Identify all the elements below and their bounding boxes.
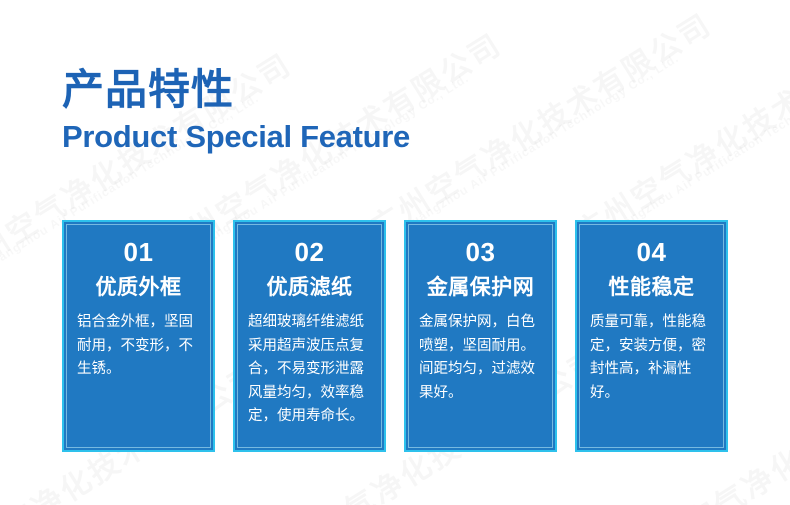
feature-card-body: 铝合金外框，坚固耐用，不变形，不生锈。 (77, 311, 200, 381)
feature-card-body: 金属保护网，白色喷塑，坚固耐用。间距均匀，过滤效果好。 (419, 311, 542, 405)
feature-card-number: 02 (248, 238, 371, 268)
feature-card-list: 01 优质外框 铝合金外框，坚固耐用，不变形，不生锈。 02 优质滤纸 超细玻璃… (62, 220, 728, 452)
feature-card-heading: 金属保护网 (419, 275, 542, 300)
page-title-en: Product Special Feature (62, 118, 410, 155)
feature-card-number: 01 (77, 238, 200, 268)
feature-card[interactable]: 04 性能稳定 质量可靠，性能稳定，安装方便，密封性高，补漏性好。 (575, 220, 728, 452)
page-header: 产品特性 Product Special Feature (62, 68, 410, 155)
feature-card-body: 超细玻璃纤维滤纸采用超声波压点复合，不易变形泄露风量均匀，效率稳定，使用寿命长。 (248, 311, 371, 428)
feature-card-number: 03 (419, 238, 542, 268)
feature-card[interactable]: 03 金属保护网 金属保护网，白色喷塑，坚固耐用。间距均匀，过滤效果好。 (404, 220, 557, 452)
feature-card-heading: 优质滤纸 (248, 275, 371, 300)
feature-card-body: 质量可靠，性能稳定，安装方便，密封性高，补漏性好。 (590, 311, 713, 405)
feature-card-number: 04 (590, 238, 713, 268)
page-title-cn: 产品特性 (62, 68, 410, 112)
feature-card[interactable]: 01 优质外框 铝合金外框，坚固耐用，不变形，不生锈。 (62, 220, 215, 452)
feature-card-heading: 优质外框 (77, 275, 200, 300)
feature-card-heading: 性能稳定 (590, 275, 713, 300)
feature-page: 产品特性 Product Special Feature 01 优质外框 铝合金… (0, 0, 790, 505)
feature-card[interactable]: 02 优质滤纸 超细玻璃纤维滤纸采用超声波压点复合，不易变形泄露风量均匀，效率稳… (233, 220, 386, 452)
